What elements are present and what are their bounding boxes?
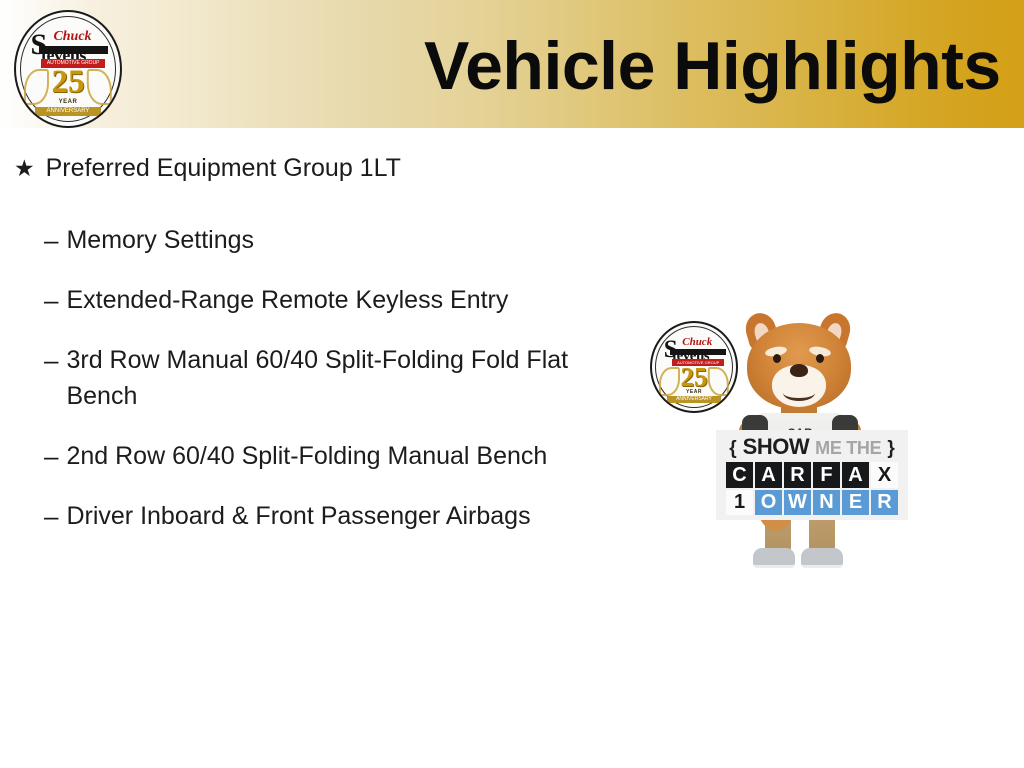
carfax-one-owner-graphic: S Chuck tevens AUTOMOTIVE GROUP 25 YEAR … <box>640 305 930 580</box>
vehicle-highlights-list: ★ Preferred Equipment Group 1LT – Memory… <box>0 150 600 558</box>
logo-badge-circle: S Chuck tevens AUTOMOTIVE GROUP 25 YEAR … <box>650 321 738 413</box>
logo-year-label: YEAR <box>16 99 120 105</box>
list-item-label: 2nd Row 60/40 Split-Folding Manual Bench <box>66 438 547 474</box>
sign-tile-o: O <box>755 490 782 515</box>
sign-tile-r: R <box>784 462 811 488</box>
sign-show-text: SHOW <box>743 434 809 460</box>
fox-eye-right <box>816 354 824 363</box>
logo-anniversary-text: ANNIVERSARY <box>667 396 721 403</box>
logo-chuck-text: Chuck <box>53 30 91 44</box>
star-icon: ★ <box>14 150 35 186</box>
list-item-label: Preferred Equipment Group 1LT <box>46 150 401 186</box>
list-item: ★ Preferred Equipment Group 1LT <box>14 150 600 186</box>
sign-tile-f: F <box>813 462 840 488</box>
sign-tile-r: R <box>871 490 898 515</box>
dash-icon: – <box>44 222 58 258</box>
dash-icon: – <box>44 282 58 318</box>
sign-tile-a: A <box>842 462 869 488</box>
sign-tagline: { SHOW ME THE } <box>716 434 908 460</box>
header-bar: S Chuck tevens AUTOMOTIVE GROUP 25 YEAR … <box>0 0 1024 128</box>
sign-tile-1: 1 <box>726 490 753 515</box>
logo-anniversary-banner: ANNIVERSARY <box>667 396 721 403</box>
chuck-stevens-logo: S Chuck tevens AUTOMOTIVE GROUP 25 YEAR … <box>14 10 122 128</box>
sign-me-the-text: ME THE <box>815 438 881 459</box>
bracket-right-icon: } <box>887 438 894 460</box>
list-item: – 2nd Row 60/40 Split-Folding Manual Ben… <box>44 438 600 474</box>
list-item: – Extended-Range Remote Keyless Entry <box>44 282 600 318</box>
sign-tile-e: E <box>842 490 869 515</box>
fox-shoe-right <box>801 548 843 568</box>
fox-shoe-left <box>753 548 795 568</box>
fox-head <box>747 323 851 409</box>
list-item: – Driver Inboard & Front Passenger Airba… <box>44 498 600 534</box>
dash-icon: – <box>44 342 58 378</box>
sign-tile-a: A <box>755 462 782 488</box>
list-item-label: Driver Inboard & Front Passenger Airbags <box>66 498 530 534</box>
list-item-label: 3rd Row Manual 60/40 Split-Folding Fold … <box>66 342 581 414</box>
sign-tile-x: X <box>871 462 898 488</box>
carfax-sign: { SHOW ME THE } CARFAX 1OWNER <box>716 430 908 520</box>
fox-nose <box>790 364 808 377</box>
logo-anniversary-text: ANNIVERSARY <box>35 107 102 116</box>
sign-owner-tiles: 1OWNER <box>716 490 908 515</box>
list-item-label: Extended-Range Remote Keyless Entry <box>66 282 508 318</box>
sign-tile-n: N <box>813 490 840 515</box>
fox-mouth <box>783 385 815 401</box>
page-title: Vehicle Highlights <box>424 20 1001 112</box>
sign-carfax-tiles: CARFAX <box>716 462 908 488</box>
fox-eye-left <box>773 354 781 363</box>
list-item-label: Memory Settings <box>66 222 254 258</box>
dash-icon: – <box>44 438 58 474</box>
logo-badge-circle: S Chuck tevens AUTOMOTIVE GROUP 25 YEAR … <box>14 10 122 128</box>
bracket-left-icon: { <box>729 438 736 460</box>
logo-year-label: YEAR <box>652 390 736 395</box>
logo-anniversary-banner: ANNIVERSARY <box>35 107 102 116</box>
dash-icon: – <box>44 498 58 534</box>
list-item: – 3rd Row Manual 60/40 Split-Folding Fol… <box>44 342 600 414</box>
sign-tile-w: W <box>784 490 811 515</box>
list-item: – Memory Settings <box>44 222 600 258</box>
logo-years-number: 25 <box>16 66 120 99</box>
chuck-stevens-logo-small: S Chuck tevens AUTOMOTIVE GROUP 25 YEAR … <box>650 321 738 413</box>
logo-chuck-text: Chuck <box>682 337 712 348</box>
logo-years-number: 25 <box>652 364 736 391</box>
sign-tile-c: C <box>726 462 753 488</box>
